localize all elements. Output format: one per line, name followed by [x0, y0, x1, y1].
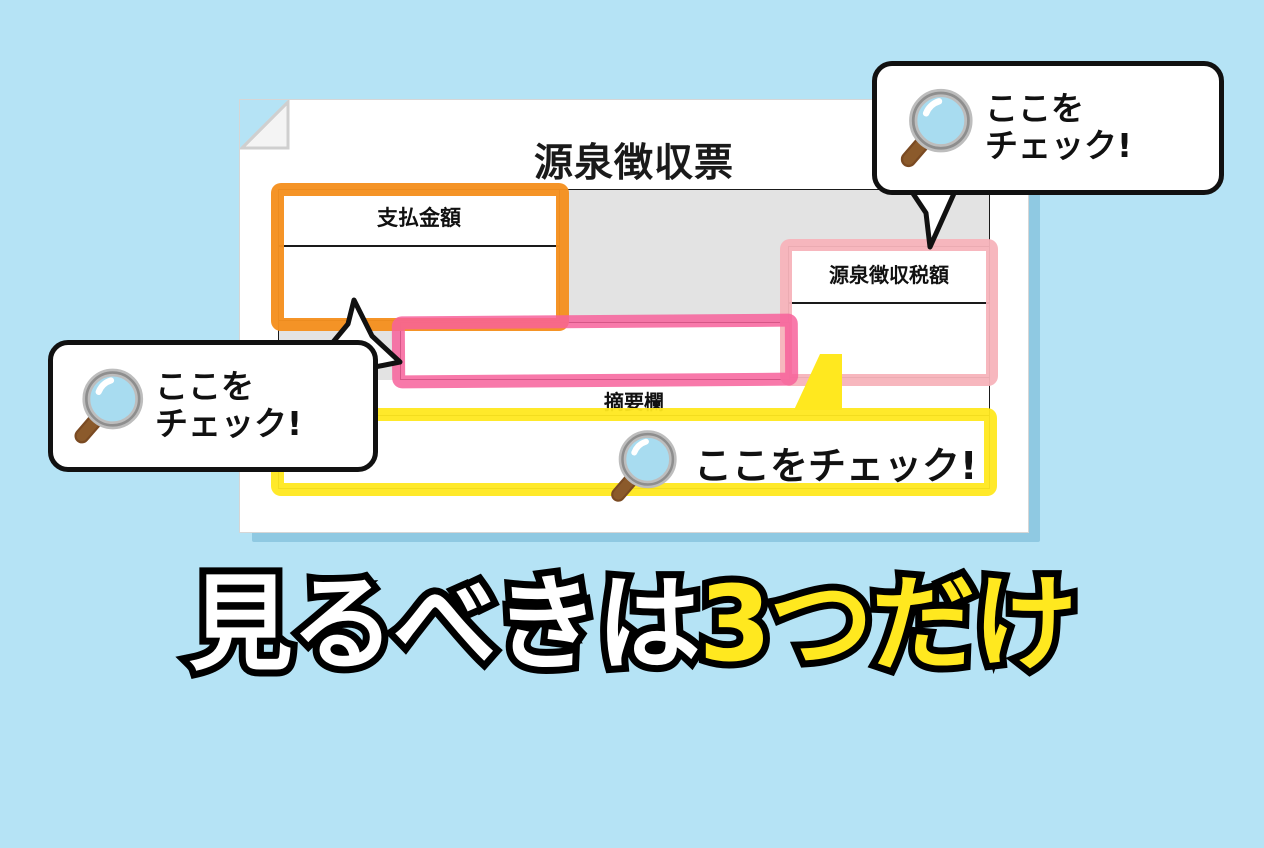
callout-top-right-text: ここを チェック! — [985, 91, 1132, 165]
magnifier-icon — [893, 82, 985, 174]
callout-bottom[interactable]: ここをチェック! — [604, 424, 977, 508]
callout-top-right[interactable]: ここを チェック! — [872, 61, 1224, 195]
callout-bottom-tail — [788, 352, 858, 418]
withholding-tax-divider — [788, 302, 990, 304]
withholding-tax-label: 源泉徴収税額 — [788, 265, 990, 285]
headline-part2: 3つだけ — [699, 563, 1075, 685]
document-corner-edge — [240, 100, 308, 168]
magnifier-icon — [67, 362, 155, 450]
headline: 見るべきは3つだけ — [0, 572, 1264, 676]
middle-row-cell — [400, 322, 790, 380]
poster-canvas: 源泉徴収票 支払金額 源泉徴収税額 摘要欄 — [0, 0, 1264, 848]
callout-left-text: ここを チェック! — [155, 369, 302, 443]
callout-bottom-text: ここをチェック! — [694, 447, 977, 485]
payment-amount-label: 支払金額 — [278, 208, 560, 229]
callout-left[interactable]: ここを チェック! — [48, 340, 378, 472]
headline-part1: 見るべきは — [189, 563, 699, 685]
magnifier-icon — [604, 424, 688, 508]
callout-top-right-tail — [900, 185, 970, 255]
payment-amount-divider — [278, 245, 560, 247]
